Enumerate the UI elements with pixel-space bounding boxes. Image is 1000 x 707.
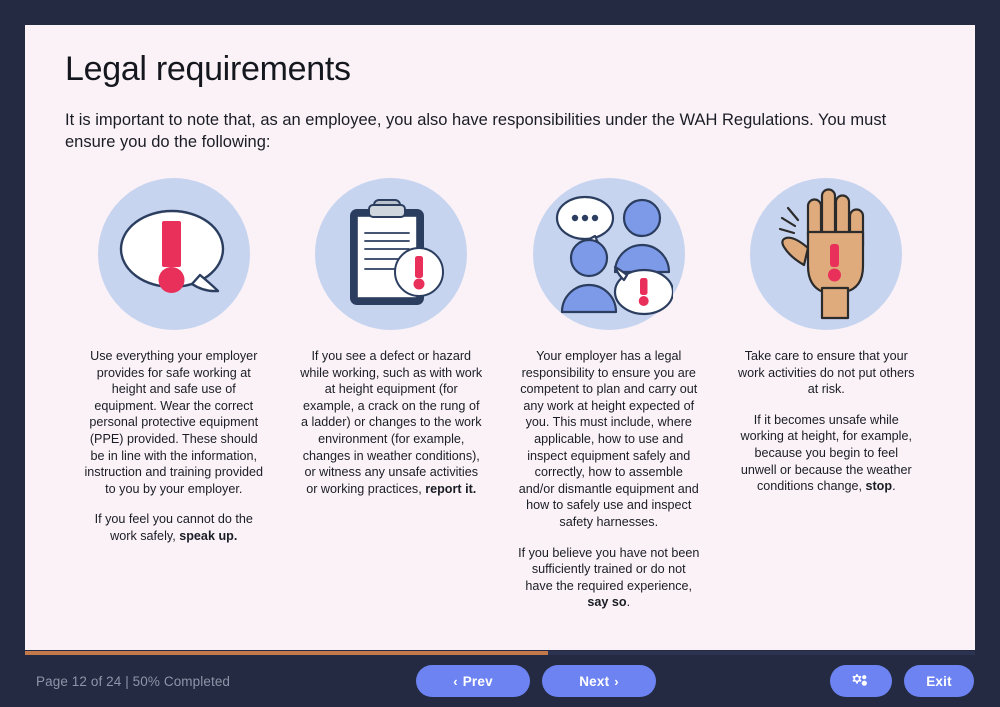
- paragraph-emphasis: stop: [865, 479, 892, 493]
- utility-controls: Exit: [830, 665, 974, 697]
- paragraph-tail: .: [627, 595, 631, 609]
- prev-button[interactable]: ‹ Prev: [416, 665, 530, 697]
- paragraph-tail: .: [892, 479, 896, 493]
- slide-card: Legal requirements It is important to no…: [25, 25, 975, 650]
- exit-button[interactable]: Exit: [904, 665, 974, 697]
- exit-button-label: Exit: [926, 674, 952, 689]
- paragraph-lead: If you see a defect or hazard while work…: [300, 349, 482, 496]
- column-use-equipment: Use everything your employer provides fo…: [65, 178, 283, 611]
- paragraph: Take care to ensure that your work activ…: [735, 348, 917, 398]
- paragraph-emphasis: speak up.: [179, 529, 237, 543]
- people-discussion-icon: [533, 178, 685, 330]
- column-text: Use everything your employer provides fo…: [83, 348, 265, 545]
- gear-icon: [849, 672, 869, 690]
- slide-content: Legal requirements It is important to no…: [25, 25, 975, 611]
- paragraph-lead: If you believe you have not been suffici…: [518, 546, 699, 593]
- intro-paragraph: It is important to note that, as an empl…: [65, 110, 935, 154]
- column-text: Take care to ensure that your work activ…: [735, 348, 917, 495]
- page-title: Legal requirements: [65, 51, 935, 88]
- navigation-controls: ‹ Prev Next ›: [416, 665, 656, 697]
- responsibility-columns: Use everything your employer provides fo…: [65, 178, 935, 611]
- paragraph-emphasis: say so: [587, 595, 626, 609]
- column-text: Your employer has a legal responsibility…: [518, 348, 700, 611]
- settings-button[interactable]: [830, 665, 892, 697]
- column-take-care-stop: Take care to ensure that your work activ…: [718, 178, 936, 611]
- prev-button-label: Prev: [463, 674, 493, 689]
- paragraph: If it becomes unsafe while working at he…: [735, 412, 917, 495]
- speech-bubble-exclamation-icon: [98, 178, 250, 330]
- footer-bar: Page 12 of 24 | 50% Completed ‹ Prev Nex…: [0, 655, 1000, 707]
- chevron-right-icon: ›: [614, 675, 619, 688]
- progress-status-text: Page 12 of 24 | 50% Completed: [36, 674, 230, 689]
- chevron-left-icon: ‹: [453, 675, 458, 688]
- paragraph: Use everything your employer provides fo…: [83, 348, 265, 497]
- paragraph: If you feel you cannot do the work safel…: [83, 511, 265, 544]
- paragraph: If you see a defect or hazard while work…: [300, 348, 482, 497]
- next-button-label: Next: [579, 674, 609, 689]
- column-text: If you see a defect or hazard while work…: [300, 348, 482, 497]
- column-report-defects: If you see a defect or hazard while work…: [283, 178, 501, 611]
- paragraph-emphasis: report it.: [425, 482, 476, 496]
- paragraph: Your employer has a legal responsibility…: [518, 348, 700, 531]
- paragraph: If you believe you have not been suffici…: [518, 545, 700, 611]
- column-competence-training: Your employer has a legal responsibility…: [500, 178, 718, 611]
- slide-stage: Legal requirements It is important to no…: [0, 0, 1000, 707]
- next-button[interactable]: Next ›: [542, 665, 656, 697]
- clipboard-alert-icon: [315, 178, 467, 330]
- raised-hand-stop-icon: [750, 178, 902, 330]
